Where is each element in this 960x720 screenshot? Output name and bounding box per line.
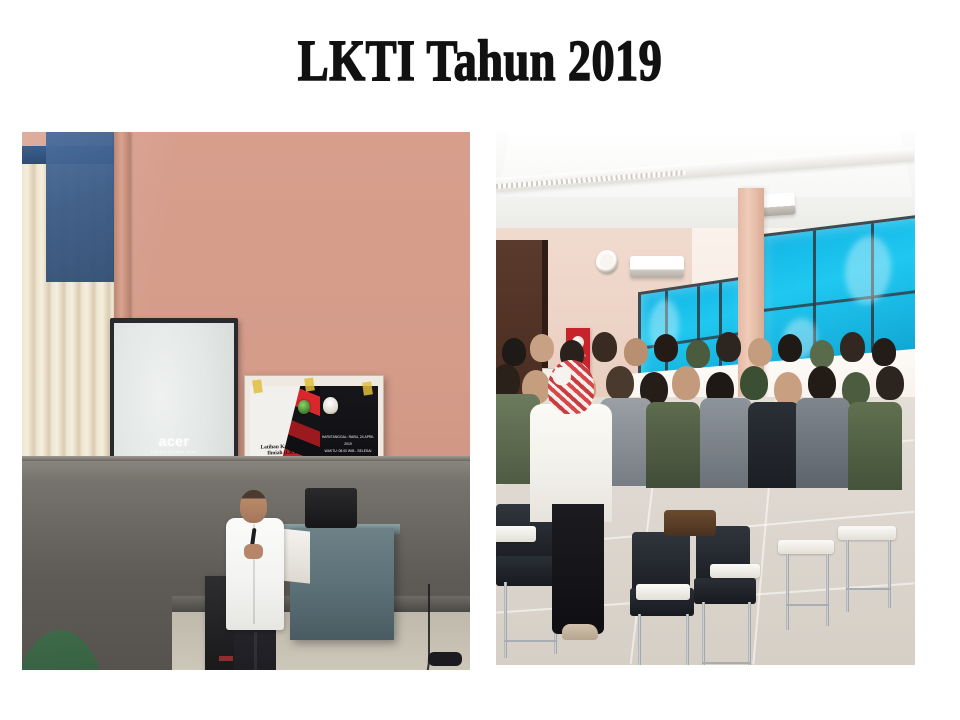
audience-torso (748, 402, 800, 488)
backpack-on-chair (664, 510, 716, 536)
desk-cloth (280, 528, 310, 583)
audience-head (654, 334, 678, 362)
audience-shoe (428, 652, 462, 666)
chair-leg (702, 602, 705, 665)
chair-tablet-arm (636, 584, 690, 600)
audience-torso (700, 398, 752, 488)
stage-edge (22, 456, 470, 461)
tape-icon (362, 381, 373, 395)
foreground-person-trousers (552, 504, 604, 634)
chair-leg (504, 582, 507, 658)
classroom-audience-photo: BANNER (496, 132, 915, 665)
audience-head (624, 338, 648, 366)
audience-head (496, 364, 520, 398)
wall-clock-icon (596, 250, 618, 274)
chair-tablet-arm (496, 526, 536, 542)
chair-leg (786, 554, 789, 630)
acer-logo: acer (114, 433, 234, 449)
chair-seat (694, 578, 756, 604)
audience-head (530, 334, 554, 362)
tape-icon (252, 379, 263, 393)
audio-cable (340, 584, 430, 670)
tape-icon (304, 377, 315, 391)
chair-leg (748, 602, 751, 665)
chair-rung (846, 588, 890, 590)
audience-torso (646, 402, 700, 488)
audience-head (716, 332, 741, 362)
chair-leg (638, 614, 641, 665)
audience-head (872, 338, 896, 366)
chair-tablet-arm (838, 526, 896, 540)
clock-face (600, 254, 614, 270)
air-conditioner-unit (630, 256, 684, 278)
foreground-person-shoe (562, 624, 598, 640)
blue-wall-panel (46, 132, 124, 282)
chair-leg (826, 554, 829, 626)
audience-head (778, 334, 802, 362)
chair-rung (504, 640, 556, 642)
presenter-leg-gap (254, 632, 257, 670)
chair-leg (888, 540, 891, 608)
tutwuri-logo-icon (298, 400, 310, 414)
chair-rung (702, 662, 750, 664)
banner-info-line-2: WAKTU: 08.00 WIB - SELESAI (321, 448, 375, 455)
chair-tablet-arm (710, 564, 760, 578)
chair-leg (686, 614, 689, 665)
page-title: LKTI Tahun 2019 (96, 32, 864, 90)
audience-head (876, 366, 904, 400)
foreground-person-hijab (548, 360, 594, 414)
chair-leg (846, 540, 849, 612)
audience-head (686, 340, 710, 368)
school-crest-icon (323, 397, 338, 414)
audience-head (810, 340, 834, 368)
chair-tablet-arm (778, 540, 834, 554)
audience-head (840, 332, 865, 362)
presenter-at-podium-photo: acer explore beyond limits Windows Latih… (22, 132, 470, 670)
audience-head (672, 366, 700, 400)
presenter-hands (244, 544, 263, 559)
audience-head (740, 366, 768, 400)
audience-head (748, 338, 772, 366)
window-transom (763, 289, 915, 312)
audience-head (502, 338, 526, 366)
audience-head (808, 366, 836, 400)
audience-head (592, 332, 617, 362)
banner-info-line-1: HARI/TANGGAL: RABU, 24 APRIL 2019 (321, 434, 375, 448)
acer-tagline: explore beyond limits (114, 449, 234, 454)
monitor (305, 488, 357, 528)
audience-torso (848, 402, 902, 490)
chair-rung (786, 604, 828, 606)
audience-torso (796, 398, 850, 488)
audience-head (606, 366, 634, 400)
presenter-head (240, 490, 267, 523)
speaker-brand-logo-icon (219, 656, 233, 661)
